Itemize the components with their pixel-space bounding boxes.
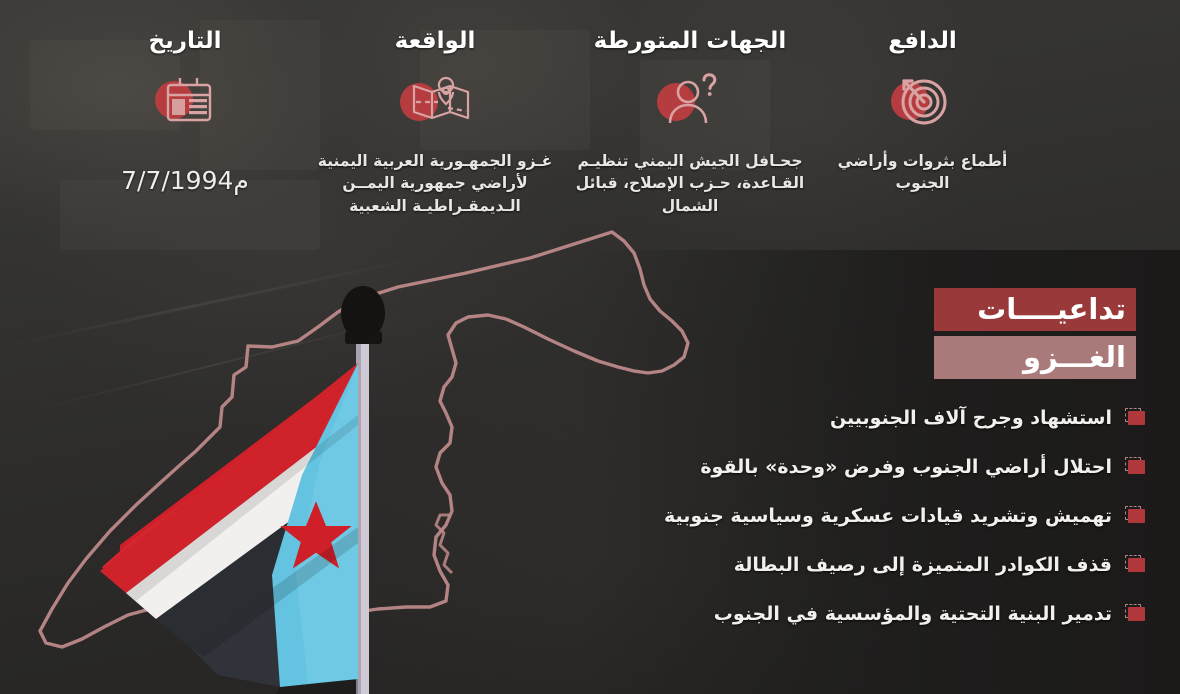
red-square-bullet-icon xyxy=(1124,604,1146,624)
column-motive: الدافع أطماع بثروات وأراضي الجنوب xyxy=(815,28,1030,195)
list-item-label: احتلال أراضي الجنوب وفرض «وحدة» بالقوة xyxy=(700,455,1112,480)
column-motive-value: أطماع بثروات وأراضي الجنوب xyxy=(815,150,1030,195)
list-item-label: قذف الكوادر المتميزة إلى رصيف البطالة xyxy=(734,553,1112,578)
banner-line-1-text: تداعيــــات xyxy=(944,295,1126,324)
unknown-person-icon xyxy=(575,70,805,132)
calendar-icon xyxy=(70,70,300,132)
column-date-value: 7/7/1994م xyxy=(70,166,300,195)
list-item: استشهاد وجرح آلاف الجنوبيين xyxy=(146,405,1146,431)
column-event-value: غـزو الجمهـورية العربية اليمنية لأراضي ج… xyxy=(315,150,555,217)
list-item: احتلال أراضي الجنوب وفرض «وحدة» بالقوة xyxy=(146,454,1146,480)
list-item: قذف الكوادر المتميزة إلى رصيف البطالة xyxy=(146,552,1146,578)
map-location-icon xyxy=(315,70,555,132)
target-icon xyxy=(815,70,1030,132)
list-item-label: تهميش وتشريد قيادات عسكرية وسياسية جنوبي… xyxy=(664,504,1112,529)
red-square-bullet-icon xyxy=(1124,457,1146,477)
column-event-header: الواقعة xyxy=(315,28,555,56)
list-item: تدمير البنية التحتية والمؤسسية في الجنوب xyxy=(146,601,1146,627)
banner-line-1: تداعيــــات xyxy=(934,288,1136,331)
column-actors: الجهات المتورطة جحـافل الجيش اليمني تنظي… xyxy=(575,28,805,217)
consequences-list: استشهاد وجرح آلاف الجنوبيين احتلال أراضي… xyxy=(146,405,1146,650)
infographic-canvas: التاريخ xyxy=(0,0,1180,694)
red-square-bullet-icon xyxy=(1124,555,1146,575)
column-motive-header: الدافع xyxy=(815,28,1030,56)
red-square-bullet-icon xyxy=(1124,506,1146,526)
list-item: تهميش وتشريد قيادات عسكرية وسياسية جنوبي… xyxy=(146,503,1146,529)
banner-line-2-text: الغـــزو xyxy=(944,343,1126,372)
column-date-header: التاريخ xyxy=(70,28,300,56)
red-square-bullet-icon xyxy=(1124,408,1146,428)
column-event: الواقعة xyxy=(315,28,555,217)
list-item-label: استشهاد وجرح آلاف الجنوبيين xyxy=(830,406,1112,431)
column-date: التاريخ xyxy=(70,28,300,195)
banner-line-2: الغـــزو xyxy=(934,336,1136,379)
column-actors-value: جحـافل الجيش اليمني تنظيـم القـاعدة، حـز… xyxy=(575,150,805,217)
list-item-label: تدمير البنية التحتية والمؤسسية في الجنوب xyxy=(714,602,1112,627)
consequences-title-block: تداعيــــات الغـــزو xyxy=(934,288,1136,379)
column-actors-header: الجهات المتورطة xyxy=(575,28,805,56)
